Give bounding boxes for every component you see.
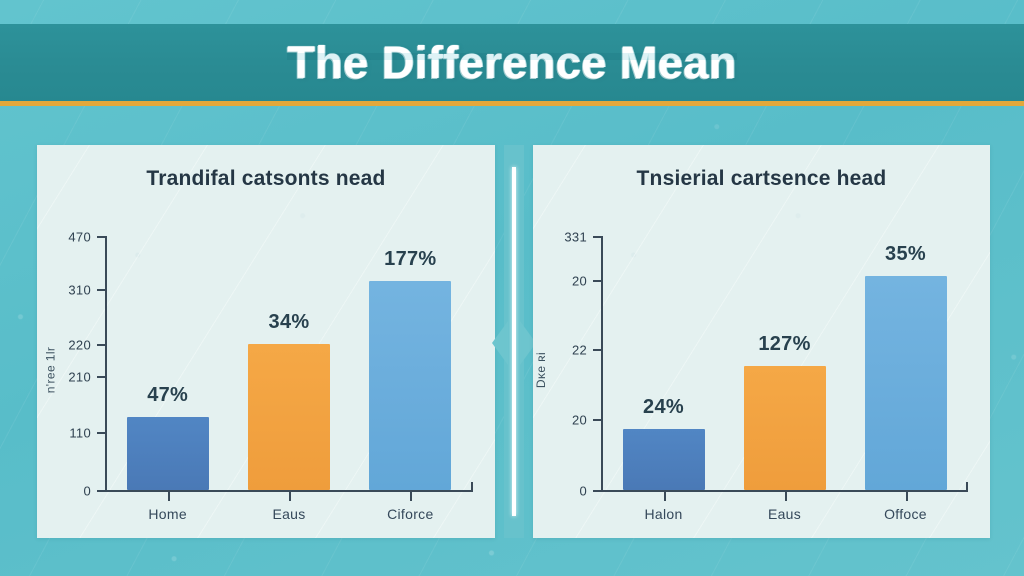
x-axis-tick bbox=[289, 492, 291, 501]
y-axis-tick-label: 20 bbox=[539, 274, 587, 289]
bar-chart-right: 3312022200Dĸe ʀi24%Halon127%Eaus35%Offoc… bbox=[533, 145, 990, 538]
y-axis-tick-label: 331 bbox=[539, 230, 587, 245]
x-axis-category-label: Halon bbox=[604, 506, 724, 522]
x-axis-category-label: Eaus bbox=[725, 506, 845, 522]
x-axis-category-label: Home bbox=[108, 506, 228, 522]
x-axis-end-tick bbox=[966, 482, 968, 491]
bar[interactable] bbox=[623, 429, 705, 490]
center-divider bbox=[496, 145, 532, 538]
y-axis-tick-label: 310 bbox=[43, 283, 91, 298]
y-axis-tick bbox=[97, 376, 106, 378]
y-axis-tick bbox=[97, 289, 106, 291]
x-axis-tick bbox=[168, 492, 170, 501]
y-axis-line bbox=[105, 236, 107, 492]
y-axis-label: n'ree 1lr bbox=[43, 347, 57, 394]
chart-panel-right: Tnsierial cartsence head 3312022200Dĸe ʀ… bbox=[533, 145, 990, 538]
y-axis-tick bbox=[593, 280, 602, 282]
y-axis-tick bbox=[97, 432, 106, 434]
bar[interactable] bbox=[865, 276, 947, 490]
bar[interactable] bbox=[744, 366, 826, 490]
bar-value-label: 24% bbox=[604, 396, 724, 419]
page-title-text: The Difference Mean bbox=[287, 37, 737, 89]
divider-line bbox=[512, 167, 516, 516]
x-axis-end-tick bbox=[471, 482, 473, 491]
bar[interactable] bbox=[127, 417, 209, 490]
bar-value-label: 177% bbox=[350, 248, 470, 271]
slide-canvas: The Difference Mean Trandifal catsonts n… bbox=[0, 0, 1024, 576]
bar-value-label: 35% bbox=[846, 243, 966, 266]
page-title: The Difference Mean bbox=[0, 24, 1024, 102]
bar-chart-left: 4703102202101100n'ree 1lr47%Home34%Eaus1… bbox=[37, 145, 495, 538]
bar-value-label: 34% bbox=[229, 311, 349, 334]
y-axis-tick bbox=[593, 236, 602, 238]
y-axis-tick-label: 0 bbox=[539, 484, 587, 499]
y-axis-tick bbox=[593, 349, 602, 351]
y-axis-label: Dĸe ʀi bbox=[534, 352, 548, 388]
x-axis-tick bbox=[664, 492, 666, 501]
y-axis-tick bbox=[593, 490, 602, 492]
x-axis-category-label: Eaus bbox=[229, 506, 349, 522]
chart-panel-left: Trandifal catsonts nead 4703102202101100… bbox=[37, 145, 495, 538]
y-axis-tick bbox=[97, 344, 106, 346]
bar[interactable] bbox=[248, 344, 330, 490]
y-axis-tick-label: 20 bbox=[539, 413, 587, 428]
y-axis-line bbox=[601, 236, 603, 492]
divider-arrow-left-icon bbox=[492, 321, 508, 365]
y-axis-tick bbox=[97, 490, 106, 492]
x-axis-tick bbox=[410, 492, 412, 501]
y-axis-tick-label: 110 bbox=[43, 426, 91, 441]
x-axis-category-label: Ciforce bbox=[350, 506, 470, 522]
x-axis-category-label: Offoce bbox=[846, 506, 966, 522]
bar-value-label: 127% bbox=[725, 333, 845, 356]
x-axis-tick bbox=[906, 492, 908, 501]
y-axis-tick-label: 0 bbox=[43, 484, 91, 499]
bar-value-label: 47% bbox=[108, 384, 228, 407]
x-axis-tick bbox=[785, 492, 787, 501]
y-axis-tick bbox=[593, 419, 602, 421]
y-axis-tick bbox=[97, 236, 106, 238]
bar[interactable] bbox=[369, 281, 451, 490]
y-axis-tick-label: 470 bbox=[43, 230, 91, 245]
